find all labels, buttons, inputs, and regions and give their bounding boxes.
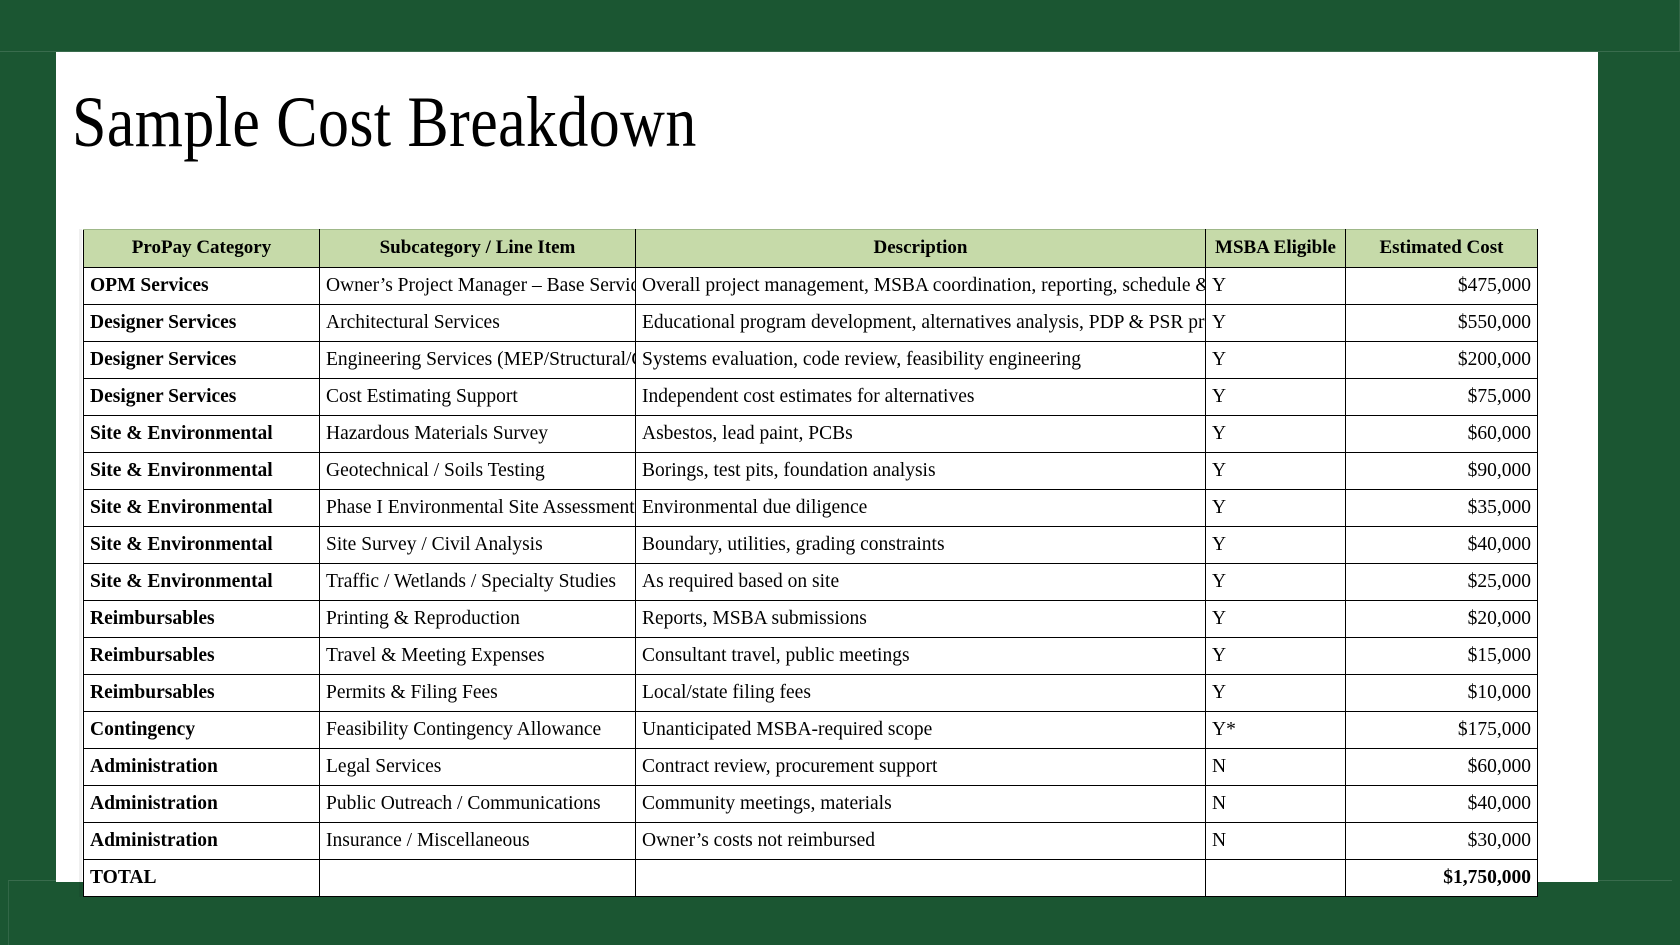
cell-subcategory: Insurance / Miscellaneous (320, 823, 636, 860)
cell-msba-eligible: N (1206, 786, 1346, 823)
cost-breakdown-table-wrapper: ProPay Category Subcategory / Line Item … (83, 229, 1537, 897)
table-row: Designer ServicesEngineering Services (M… (84, 342, 1538, 379)
cell-subcategory: Phase I Environmental Site Assessment (320, 490, 636, 527)
table-row: ReimbursablesPrinting & ReproductionRepo… (84, 601, 1538, 638)
cell-msba-eligible: Y (1206, 638, 1346, 675)
cell-subcategory: Printing & Reproduction (320, 601, 636, 638)
cell-estimated-cost: $40,000 (1346, 527, 1538, 564)
cell-subcategory (320, 860, 636, 897)
cell-estimated-cost: $10,000 (1346, 675, 1538, 712)
cell-msba-eligible: Y (1206, 416, 1346, 453)
cell-msba-eligible: Y (1206, 564, 1346, 601)
table-row: Site & EnvironmentalTraffic / Wetlands /… (84, 564, 1538, 601)
cell-subcategory: Owner’s Project Manager – Base Services (320, 268, 636, 305)
cell-description: Reports, MSBA submissions (636, 601, 1206, 638)
table-row: ContingencyFeasibility Contingency Allow… (84, 712, 1538, 749)
column-header-msba-eligible: MSBA Eligible (1206, 230, 1346, 268)
cell-estimated-cost: $20,000 (1346, 601, 1538, 638)
table-row: Designer ServicesArchitectural ServicesE… (84, 305, 1538, 342)
cell-category: Site & Environmental (84, 490, 320, 527)
cell-estimated-cost: $1,750,000 (1346, 860, 1538, 897)
cell-msba-eligible: N (1206, 823, 1346, 860)
cell-msba-eligible: Y (1206, 342, 1346, 379)
cell-subcategory: Architectural Services (320, 305, 636, 342)
cell-description: Asbestos, lead paint, PCBs (636, 416, 1206, 453)
cell-subcategory: Engineering Services (MEP/Structural/Civ… (320, 342, 636, 379)
table-row: OPM ServicesOwner’s Project Manager – Ba… (84, 268, 1538, 305)
cell-msba-eligible: Y (1206, 527, 1346, 564)
table-row: ReimbursablesPermits & Filing FeesLocal/… (84, 675, 1538, 712)
cell-description: As required based on site (636, 564, 1206, 601)
cell-msba-eligible (1206, 860, 1346, 897)
cell-description: Owner’s costs not reimbursed (636, 823, 1206, 860)
cell-category: Contingency (84, 712, 320, 749)
cell-subcategory: Cost Estimating Support (320, 379, 636, 416)
cell-subcategory: Hazardous Materials Survey (320, 416, 636, 453)
cell-estimated-cost: $30,000 (1346, 823, 1538, 860)
cell-subcategory: Site Survey / Civil Analysis (320, 527, 636, 564)
slide-stage: Sample Cost Breakdown ProPay Category Su… (0, 0, 1680, 945)
table-row: AdministrationInsurance / MiscellaneousO… (84, 823, 1538, 860)
table-row: Site & EnvironmentalSite Survey / Civil … (84, 527, 1538, 564)
cell-estimated-cost: $40,000 (1346, 786, 1538, 823)
slide-guide-top (0, 0, 1680, 52)
cell-msba-eligible: Y (1206, 305, 1346, 342)
cell-subcategory: Feasibility Contingency Allowance (320, 712, 636, 749)
cell-description: Systems evaluation, code review, feasibi… (636, 342, 1206, 379)
cost-breakdown-table: ProPay Category Subcategory / Line Item … (83, 229, 1538, 897)
cell-description: Contract review, procurement support (636, 749, 1206, 786)
table-header-row: ProPay Category Subcategory / Line Item … (84, 230, 1538, 268)
cell-msba-eligible: N (1206, 749, 1346, 786)
column-header-estimated-cost: Estimated Cost (1346, 230, 1538, 268)
cell-description: Community meetings, materials (636, 786, 1206, 823)
cell-description: Local/state filing fees (636, 675, 1206, 712)
cell-description: Environmental due diligence (636, 490, 1206, 527)
table-row: Site & EnvironmentalPhase I Environmenta… (84, 490, 1538, 527)
cell-msba-eligible: Y (1206, 453, 1346, 490)
cell-msba-eligible: Y (1206, 379, 1346, 416)
cell-msba-eligible: Y* (1206, 712, 1346, 749)
cell-subcategory: Traffic / Wetlands / Specialty Studies (320, 564, 636, 601)
cell-category: Administration (84, 749, 320, 786)
cell-category: Site & Environmental (84, 453, 320, 490)
cell-subcategory: Permits & Filing Fees (320, 675, 636, 712)
cell-estimated-cost: $175,000 (1346, 712, 1538, 749)
cell-estimated-cost: $75,000 (1346, 379, 1538, 416)
cell-estimated-cost: $60,000 (1346, 749, 1538, 786)
table-row: AdministrationPublic Outreach / Communic… (84, 786, 1538, 823)
cell-description: Educational program development, alterna… (636, 305, 1206, 342)
cell-estimated-cost: $15,000 (1346, 638, 1538, 675)
cell-subcategory: Travel & Meeting Expenses (320, 638, 636, 675)
cell-subcategory: Geotechnical / Soils Testing (320, 453, 636, 490)
table-row: ReimbursablesTravel & Meeting ExpensesCo… (84, 638, 1538, 675)
cell-msba-eligible: Y (1206, 268, 1346, 305)
cell-category: Reimbursables (84, 675, 320, 712)
cell-category: OPM Services (84, 268, 320, 305)
cell-category: TOTAL (84, 860, 320, 897)
page-title: Sample Cost Breakdown (72, 86, 697, 159)
cell-subcategory: Legal Services (320, 749, 636, 786)
cell-category: Site & Environmental (84, 416, 320, 453)
cell-category: Site & Environmental (84, 564, 320, 601)
cell-category: Administration (84, 786, 320, 823)
table-row: Designer ServicesCost Estimating Support… (84, 379, 1538, 416)
slide-content-card: Sample Cost Breakdown ProPay Category Su… (56, 52, 1598, 882)
cell-estimated-cost: $35,000 (1346, 490, 1538, 527)
column-header-subcategory: Subcategory / Line Item (320, 230, 636, 268)
cell-estimated-cost: $475,000 (1346, 268, 1538, 305)
cell-estimated-cost: $200,000 (1346, 342, 1538, 379)
cell-estimated-cost: $550,000 (1346, 305, 1538, 342)
table-total-row: TOTAL$1,750,000 (84, 860, 1538, 897)
cell-estimated-cost: $25,000 (1346, 564, 1538, 601)
table-header: ProPay Category Subcategory / Line Item … (84, 230, 1538, 268)
table-body: OPM ServicesOwner’s Project Manager – Ba… (84, 268, 1538, 897)
cell-msba-eligible: Y (1206, 675, 1346, 712)
cell-category: Reimbursables (84, 601, 320, 638)
cell-category: Designer Services (84, 305, 320, 342)
cell-category: Site & Environmental (84, 527, 320, 564)
cell-estimated-cost: $90,000 (1346, 453, 1538, 490)
cell-description: Borings, test pits, foundation analysis (636, 453, 1206, 490)
table-row: AdministrationLegal ServicesContract rev… (84, 749, 1538, 786)
cell-category: Administration (84, 823, 320, 860)
cell-description: Consultant travel, public meetings (636, 638, 1206, 675)
column-header-description: Description (636, 230, 1206, 268)
cell-description (636, 860, 1206, 897)
cell-estimated-cost: $60,000 (1346, 416, 1538, 453)
cell-description: Independent cost estimates for alternati… (636, 379, 1206, 416)
cell-category: Designer Services (84, 342, 320, 379)
cell-description: Boundary, utilities, grading constraints (636, 527, 1206, 564)
cell-category: Designer Services (84, 379, 320, 416)
table-row: Site & EnvironmentalHazardous Materials … (84, 416, 1538, 453)
column-header-propay-category: ProPay Category (84, 230, 320, 268)
cell-description: Overall project management, MSBA coordin… (636, 268, 1206, 305)
cell-msba-eligible: Y (1206, 490, 1346, 527)
cell-msba-eligible: Y (1206, 601, 1346, 638)
cell-category: Reimbursables (84, 638, 320, 675)
table-row: Site & EnvironmentalGeotechnical / Soils… (84, 453, 1538, 490)
cell-subcategory: Public Outreach / Communications (320, 786, 636, 823)
cell-description: Unanticipated MSBA-required scope (636, 712, 1206, 749)
